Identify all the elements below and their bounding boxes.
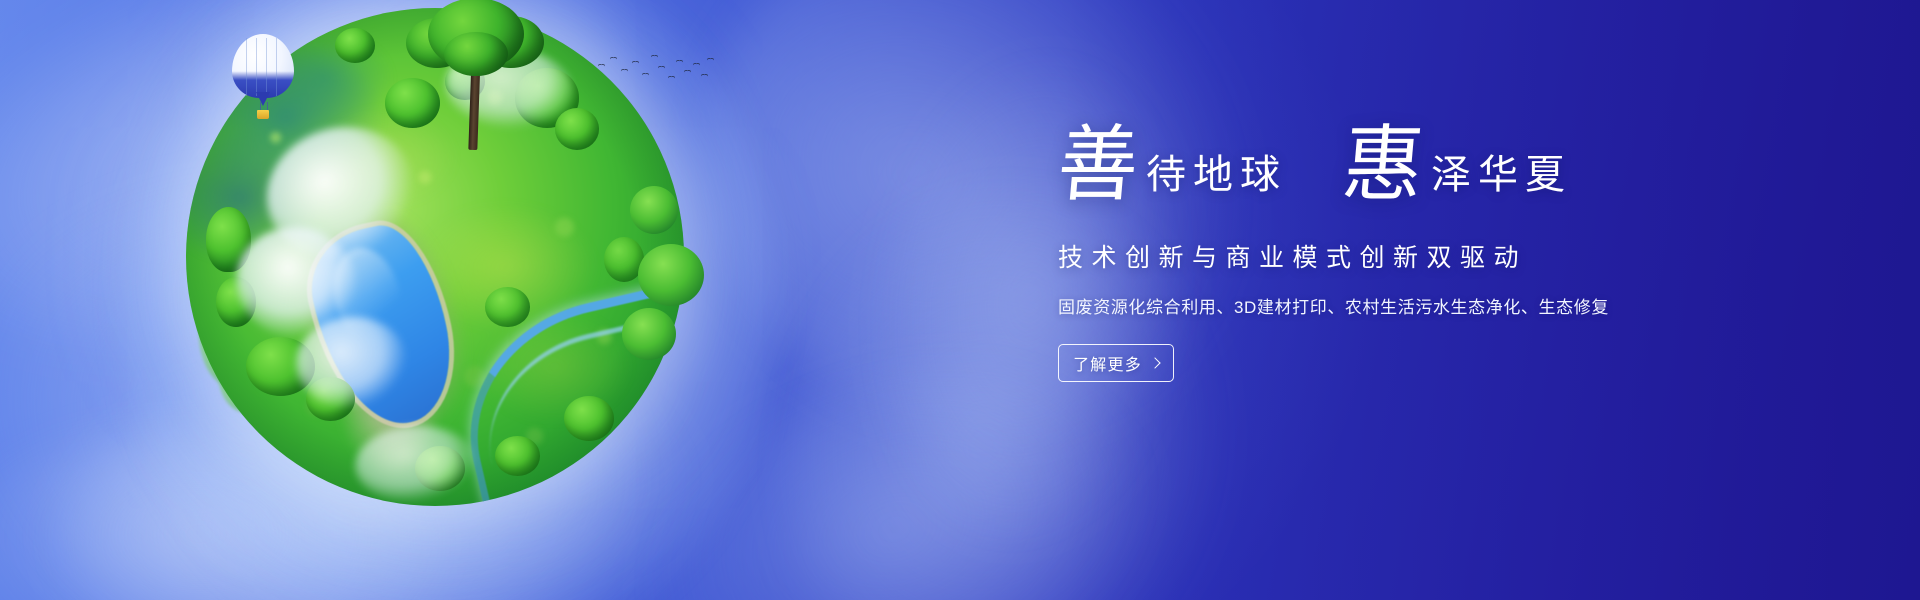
learn-more-button[interactable]: 了解更多 <box>1058 344 1174 382</box>
hero-tree <box>400 0 550 146</box>
balloon-basket <box>257 110 269 119</box>
banner-text-block: 善 待地球 惠 泽华夏 技术创新与商业模式创新双驱动 固废资源化综合利用、3D建… <box>1058 126 1758 382</box>
headline-rest-1: 待地球 <box>1146 155 1287 195</box>
hero-banner: 善 待地球 惠 泽华夏 技术创新与商业模式创新双驱动 固废资源化综合利用、3D建… <box>0 0 1920 600</box>
hot-air-balloon-icon <box>232 34 294 120</box>
planet-tree <box>335 28 375 63</box>
headline-lead-1: 善 <box>1054 124 1141 207</box>
bird-flock-icon <box>594 52 714 86</box>
cta-row: 了解更多 <box>1058 344 1758 382</box>
planet-tree <box>485 287 530 327</box>
headline: 善 待地球 惠 泽华夏 <box>1058 126 1758 222</box>
description: 固废资源化综合利用、3D建材打印、农村生活污水生态净化、生态修复 <box>1058 293 1758 318</box>
planet-tree <box>495 436 540 476</box>
learn-more-label: 了解更多 <box>1073 351 1142 375</box>
limb-bush <box>638 244 704 306</box>
headline-rest-2: 泽华夏 <box>1431 155 1572 195</box>
balloon-envelope <box>232 34 294 98</box>
chevron-right-icon <box>1149 357 1160 368</box>
limb-bush <box>622 308 676 360</box>
subtitle: 技术创新与商业模式创新双驱动 <box>1058 238 1758 274</box>
limb-bush <box>630 186 678 234</box>
headline-lead-2: 惠 <box>1339 124 1426 207</box>
